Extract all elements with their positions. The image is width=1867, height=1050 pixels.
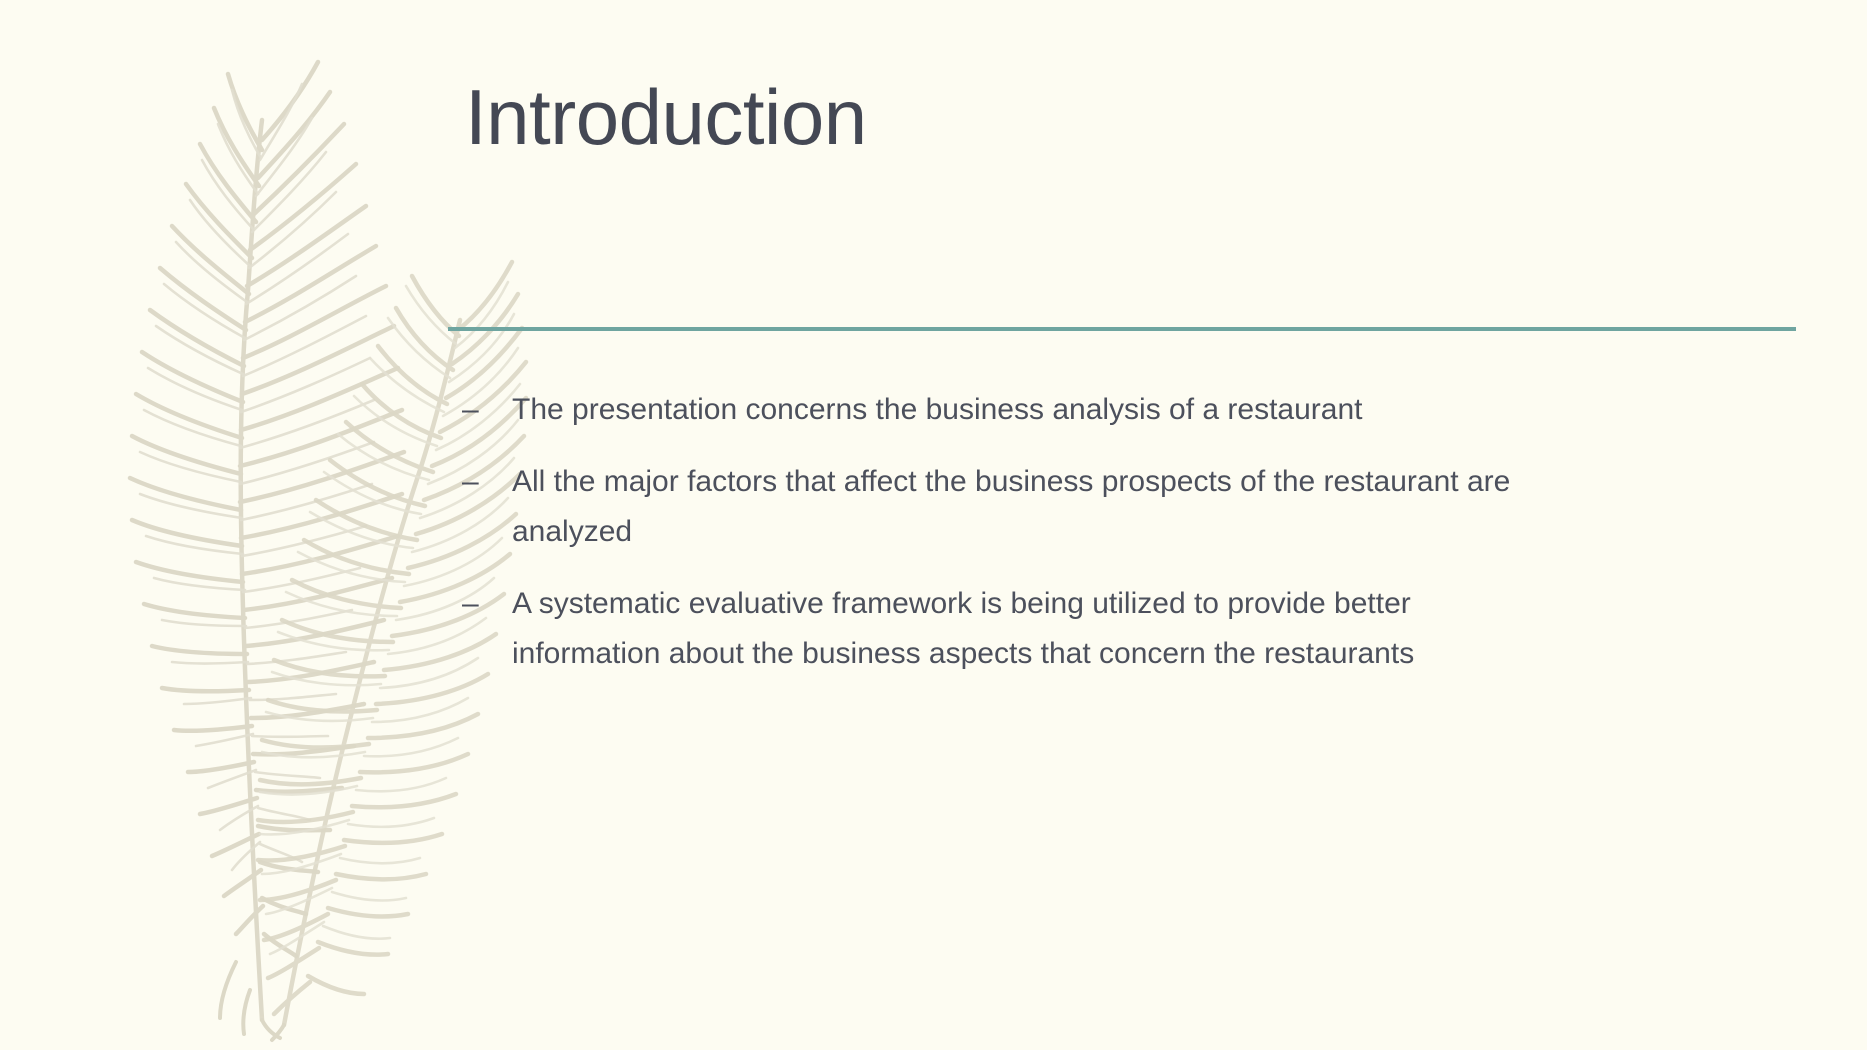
bullet-dash-icon: –: [462, 385, 512, 435]
list-item: – All the major factors that affect the …: [462, 457, 1762, 557]
title-divider: [448, 327, 1796, 331]
bullet-dash-icon: –: [462, 579, 512, 629]
list-item-text: The presentation concerns the business a…: [512, 385, 1632, 435]
title-block: Introduction: [465, 78, 1805, 156]
list-item: – The presentation concerns the business…: [462, 385, 1762, 435]
list-item-text: All the major factors that affect the bu…: [512, 457, 1532, 557]
bullet-dash-icon: –: [462, 457, 512, 507]
list-item: – A systematic evaluative framework is b…: [462, 579, 1762, 679]
presentation-slide: Introduction – The presentation concerns…: [0, 0, 1867, 1050]
bullet-list: – The presentation concerns the business…: [462, 385, 1762, 679]
page-title: Introduction: [465, 78, 1805, 156]
list-item-text: A systematic evaluative framework is bei…: [512, 579, 1437, 679]
